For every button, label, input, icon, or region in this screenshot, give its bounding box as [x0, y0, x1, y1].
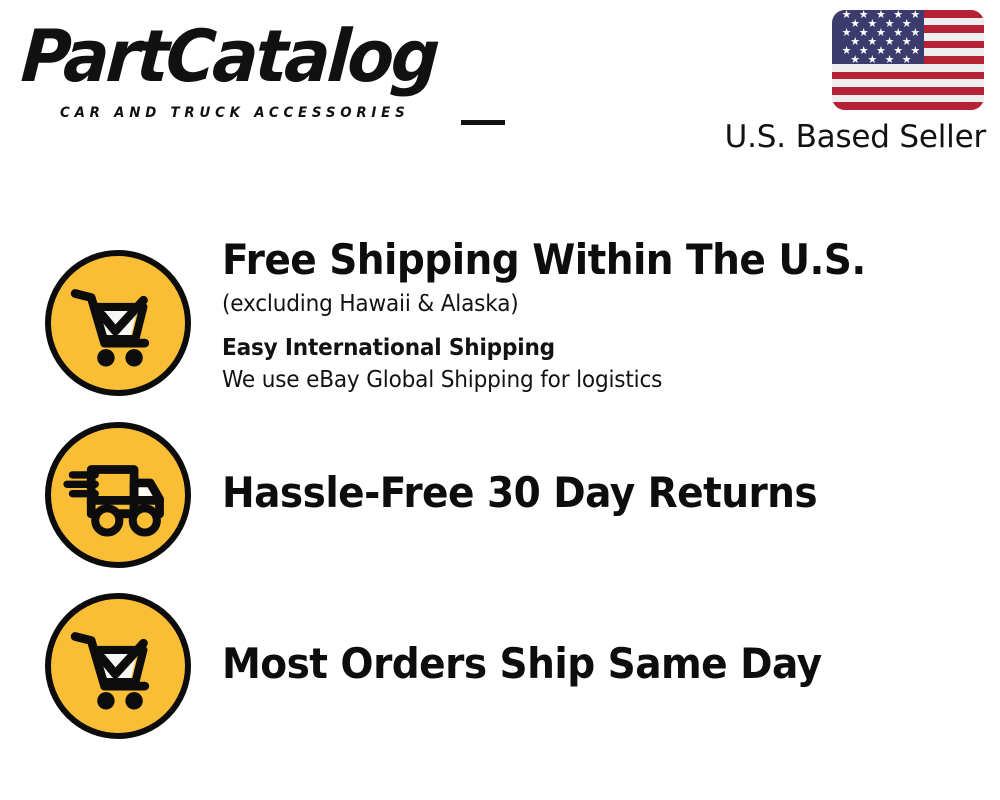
feature-list: Free Shipping Within The U.S. (excluding…: [0, 0, 1000, 800]
feature-text-block: Free Shipping Within The U.S. (excluding…: [222, 236, 942, 396]
feature-text-block: Most Orders Ship Same Day: [222, 640, 942, 688]
shopping-cart-check-icon: [45, 593, 191, 739]
feature-title: Most Orders Ship Same Day: [222, 640, 892, 688]
feature-subtitle: We use eBay Global Shipping for logistic…: [222, 364, 899, 396]
feature-title: Free Shipping Within The U.S.: [222, 236, 892, 284]
feature-subtitle: (excluding Hawaii & Alaska): [222, 288, 899, 320]
delivery-truck-icon: [45, 422, 191, 568]
feature-text-block: Hassle-Free 30 Day Returns: [222, 469, 942, 517]
feature-title: Hassle-Free 30 Day Returns: [222, 469, 892, 517]
feature-subtitle: Easy International Shipping: [222, 332, 899, 364]
shopping-cart-check-icon: [45, 250, 191, 396]
